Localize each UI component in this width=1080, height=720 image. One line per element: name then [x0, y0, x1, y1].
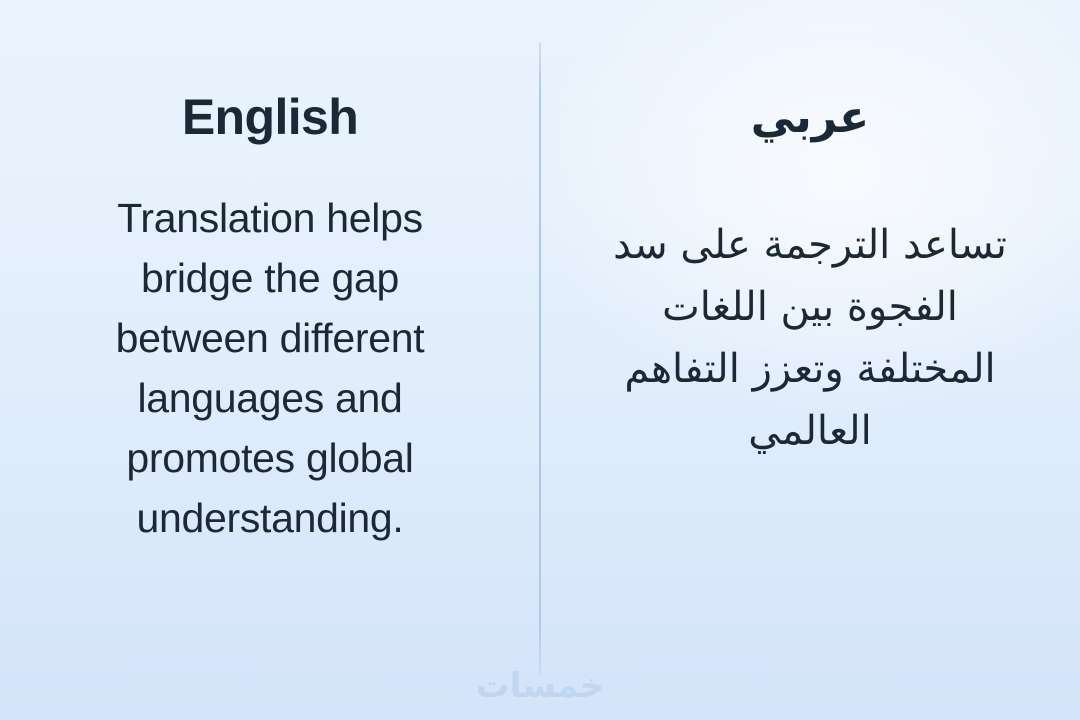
english-body-text: Translation helps bridge the gap between…	[70, 188, 470, 548]
arabic-pane: عربي تساعد الترجمة على سد الفجوة بين الل…	[540, 0, 1080, 720]
english-pane: English Translation helps bridge the gap…	[0, 0, 540, 720]
english-heading: English	[182, 92, 358, 142]
arabic-heading: عربي	[751, 96, 869, 140]
arabic-body-text: تساعد الترجمة على سد الفجوة بين اللغات ا…	[600, 214, 1020, 462]
watermark-label: خمسات	[0, 666, 1080, 706]
translation-comparison-canvas: English Translation helps bridge the gap…	[0, 0, 1080, 720]
